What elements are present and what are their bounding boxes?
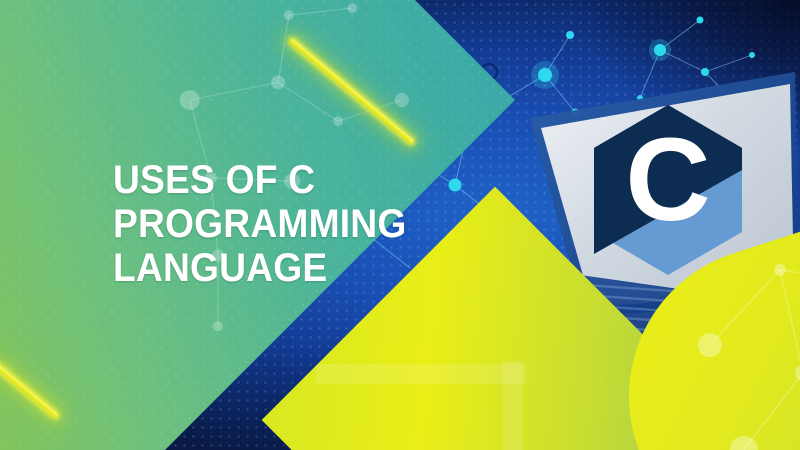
banner: C <box>0 0 800 450</box>
headline-line-1: USES OF C <box>113 158 513 202</box>
svg-text:C: C <box>625 114 710 246</box>
page-title: USES OF C PROGRAMMING LANGUAGE <box>113 158 513 290</box>
headline-line-2: PROGRAMMING <box>113 202 513 246</box>
headline-line-3: LANGUAGE <box>113 246 513 290</box>
